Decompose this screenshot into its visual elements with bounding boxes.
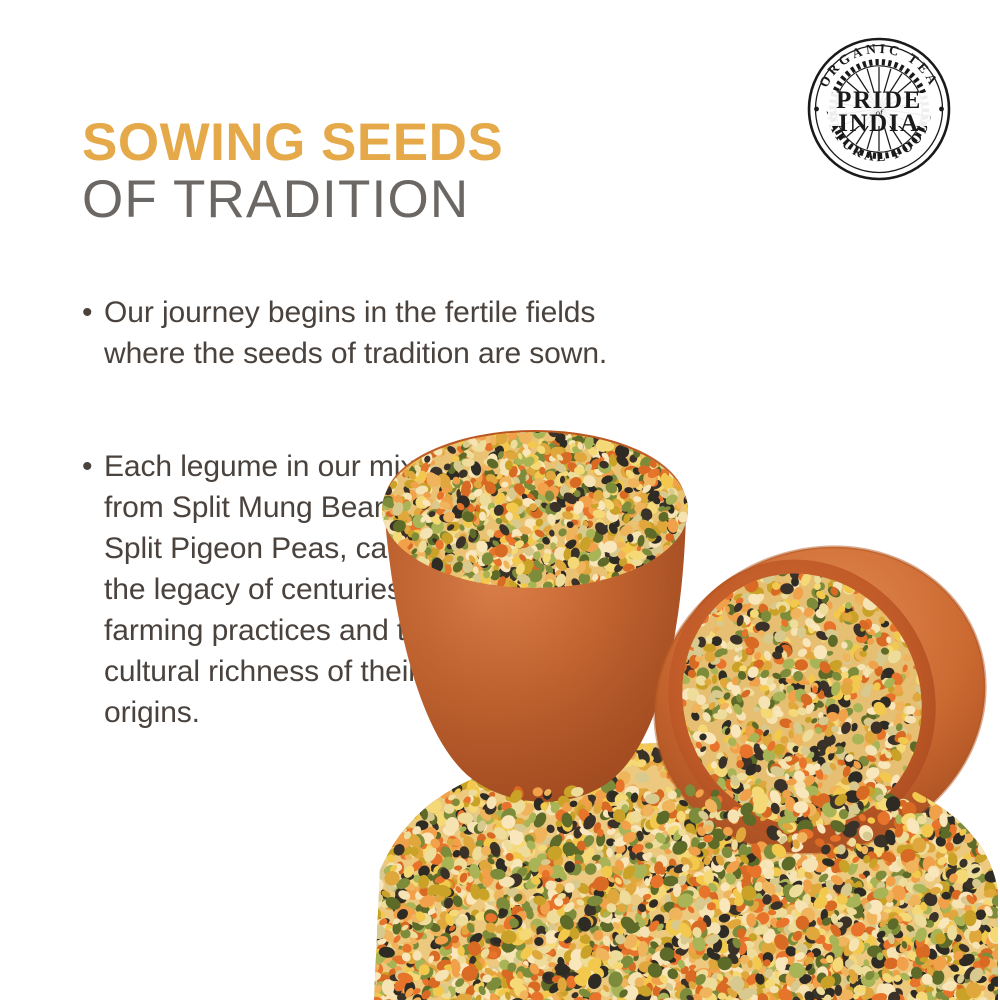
lentil-grain bbox=[611, 926, 626, 941]
lentil-grain bbox=[843, 882, 853, 889]
lentil-grain bbox=[734, 914, 751, 927]
lentil-grain bbox=[864, 668, 870, 678]
lentil-grain bbox=[788, 894, 802, 909]
lentil-grain bbox=[777, 924, 788, 932]
lentil-grain bbox=[490, 761, 497, 770]
lentil-grain bbox=[599, 919, 616, 934]
lentil-grain bbox=[854, 925, 868, 939]
lentil-grain bbox=[930, 621, 939, 630]
lentil-grain bbox=[795, 745, 811, 761]
lentil-grain bbox=[732, 824, 744, 836]
lentil-grain bbox=[413, 765, 429, 777]
lentil-grain bbox=[631, 904, 642, 914]
lentil-grain bbox=[800, 779, 811, 791]
lentil-grain bbox=[689, 842, 705, 859]
lentil-grain bbox=[369, 802, 385, 818]
lentil-grain bbox=[674, 770, 686, 784]
lentil-grain bbox=[574, 756, 588, 768]
lentil-grain bbox=[676, 874, 689, 888]
lentil-grain bbox=[506, 767, 522, 782]
lentil-grain bbox=[868, 877, 883, 893]
lentil-grain bbox=[924, 558, 942, 576]
lentil-grain bbox=[972, 738, 985, 750]
lentil-grain bbox=[875, 734, 887, 744]
lentil-grain bbox=[452, 814, 461, 827]
lentil-grain bbox=[825, 854, 838, 866]
lentil-grain bbox=[843, 819, 853, 826]
lentil-grain bbox=[506, 862, 515, 871]
lentil-grain bbox=[791, 957, 803, 970]
lentil-grain bbox=[730, 738, 739, 746]
lentil-grain bbox=[627, 810, 636, 821]
lentil-grain bbox=[429, 747, 444, 764]
lentil-grain bbox=[494, 925, 513, 944]
lentil-spill-pile bbox=[353, 722, 1000, 1000]
lentil-grain bbox=[792, 811, 811, 830]
lentil-grain bbox=[805, 852, 822, 867]
lentil-grain bbox=[664, 894, 674, 906]
lentil-grain bbox=[519, 859, 534, 875]
lentil-grain bbox=[720, 554, 736, 571]
lentil-grain bbox=[810, 941, 827, 958]
lentil-grain bbox=[921, 768, 931, 776]
lentil-grain bbox=[528, 783, 537, 792]
lentil-grain bbox=[951, 946, 965, 960]
lentil-grain bbox=[777, 640, 795, 658]
lentil-grain bbox=[917, 861, 929, 871]
lentil-grain bbox=[928, 721, 944, 737]
lentil-grain bbox=[828, 747, 844, 762]
lentil-grain bbox=[776, 755, 794, 770]
lentil-grain bbox=[958, 925, 968, 940]
lentil-grain bbox=[564, 846, 578, 860]
lentil-grain bbox=[994, 785, 1000, 802]
lentil-grain bbox=[625, 877, 635, 886]
lentil-grain bbox=[880, 848, 896, 865]
lentil-grain bbox=[370, 991, 380, 1000]
lentil-grain bbox=[730, 864, 737, 873]
lentil-grain bbox=[918, 760, 929, 774]
lentil-grain bbox=[492, 858, 503, 869]
lentil-grain bbox=[459, 876, 466, 886]
lentil-grain bbox=[989, 875, 1000, 892]
lentil-grain bbox=[527, 846, 536, 857]
lentil-grain bbox=[899, 667, 911, 680]
lentil-grain bbox=[470, 881, 488, 900]
lentil-grain bbox=[427, 955, 435, 964]
lentil-grain bbox=[958, 791, 974, 806]
lentil-grain bbox=[852, 906, 865, 915]
lentil-grain bbox=[664, 817, 680, 834]
lentil-grain bbox=[805, 795, 820, 809]
lentil-grain bbox=[914, 710, 923, 717]
lentil-grain bbox=[763, 957, 775, 968]
lentil-grain bbox=[553, 884, 568, 898]
lentil-grain bbox=[954, 917, 967, 931]
lentil-grain bbox=[536, 867, 546, 881]
lentil-grain bbox=[710, 791, 728, 810]
lentil-grain bbox=[485, 930, 499, 943]
lentil-grain bbox=[769, 711, 777, 723]
lentil-grain bbox=[927, 931, 936, 939]
lentil-grain bbox=[426, 905, 437, 913]
lentil-grain bbox=[975, 996, 991, 1000]
lentil-grain bbox=[849, 644, 862, 659]
lentil-grain bbox=[825, 825, 837, 836]
lentil-grain bbox=[437, 942, 454, 958]
lentil-grain bbox=[422, 889, 438, 905]
lentil-grain bbox=[755, 769, 765, 778]
lentil-grain bbox=[778, 979, 787, 986]
lentil-grain bbox=[849, 905, 858, 914]
lentil-grain bbox=[689, 974, 702, 988]
lentil-grain bbox=[911, 748, 920, 758]
lentil-grain bbox=[851, 816, 862, 827]
lentil-grain bbox=[988, 929, 999, 939]
lentil-grain bbox=[790, 933, 801, 943]
lentil-grain bbox=[833, 885, 844, 896]
lentil-grain bbox=[451, 865, 470, 882]
lentil-grain bbox=[667, 865, 682, 879]
lentil-grain bbox=[855, 805, 871, 822]
lentil-grain bbox=[687, 851, 696, 860]
lentil-grain bbox=[788, 760, 801, 772]
lentil-grain bbox=[844, 898, 861, 916]
lentil-grain bbox=[725, 862, 734, 872]
lentil-grain bbox=[378, 944, 391, 960]
lentil-grain bbox=[424, 799, 439, 816]
lentil-grain bbox=[489, 841, 496, 850]
lentil-grain bbox=[382, 806, 392, 815]
lentil-grain bbox=[750, 731, 766, 745]
lentil-grain bbox=[825, 650, 834, 656]
lentil-grain bbox=[396, 980, 407, 995]
lentil-grain bbox=[884, 557, 896, 570]
lentil-grain bbox=[517, 865, 533, 882]
lentil-grain bbox=[669, 831, 684, 847]
lentil-grain bbox=[394, 951, 406, 965]
lentil-grain bbox=[837, 756, 845, 765]
lentil-grain bbox=[830, 666, 844, 679]
lentil-grain bbox=[827, 749, 835, 758]
lentil-grain bbox=[542, 971, 553, 982]
lentil-grain bbox=[652, 801, 660, 811]
lentil-grain bbox=[666, 949, 683, 967]
lentil-grain bbox=[859, 672, 871, 684]
lentil-grain bbox=[772, 636, 779, 646]
lentil-grain bbox=[729, 852, 748, 870]
lentil-grain bbox=[855, 781, 875, 801]
lentil-grain bbox=[987, 926, 996, 934]
lentil-grain bbox=[642, 874, 655, 885]
lentil-grain bbox=[448, 937, 462, 951]
lentil-grain bbox=[580, 793, 597, 812]
lentil-grain bbox=[462, 802, 469, 807]
lentil-grain bbox=[660, 996, 674, 1000]
lentil-grain bbox=[710, 573, 718, 582]
lentil-grain bbox=[419, 982, 434, 999]
lentil-grain bbox=[567, 928, 576, 938]
lentil-grain bbox=[877, 648, 888, 663]
lentil-grain bbox=[502, 747, 518, 759]
lentil-grain bbox=[963, 893, 977, 905]
lentil-grain bbox=[975, 952, 985, 962]
lentil-grain bbox=[954, 983, 968, 997]
lentil-grain bbox=[542, 927, 561, 946]
lentil-grain bbox=[649, 957, 659, 965]
lentil-grain bbox=[887, 815, 903, 829]
lentil-grain bbox=[717, 995, 726, 1000]
lentil-grain bbox=[919, 723, 931, 739]
lentil-grain bbox=[663, 941, 675, 952]
lentil-grain bbox=[734, 794, 741, 804]
lentil-grain bbox=[670, 770, 685, 785]
lentil-grain bbox=[423, 967, 437, 978]
lentil-grain bbox=[437, 857, 452, 871]
lentil-grain bbox=[601, 952, 613, 966]
lentil-grain bbox=[403, 829, 420, 847]
lentil-grain bbox=[449, 988, 459, 998]
lentil-grain bbox=[404, 854, 413, 860]
lentil-grain bbox=[522, 972, 534, 984]
lentil-grain bbox=[710, 609, 720, 618]
lentil-grain bbox=[905, 973, 922, 990]
lentil-grain bbox=[926, 825, 939, 838]
lentil-grain bbox=[941, 868, 953, 882]
lentil-grain bbox=[513, 798, 518, 805]
lentil-grain bbox=[768, 758, 785, 774]
lentil-grain bbox=[567, 839, 583, 852]
lentil-grain bbox=[830, 877, 840, 884]
lentil-grain bbox=[385, 993, 399, 1000]
lentil-grain bbox=[837, 756, 848, 767]
lentil-grain bbox=[973, 794, 986, 808]
lentil-grain bbox=[725, 907, 740, 921]
lentil-grain bbox=[850, 794, 865, 804]
lentil-grain bbox=[488, 910, 502, 926]
lentil-grain bbox=[817, 740, 831, 752]
lentil-grain bbox=[384, 900, 393, 908]
lentil-grain bbox=[735, 831, 743, 841]
lentil-grain bbox=[866, 725, 882, 742]
lentil-grain bbox=[781, 913, 795, 931]
lentil-grain bbox=[724, 771, 738, 782]
lentil-grain bbox=[377, 910, 386, 918]
lentil-grain bbox=[815, 861, 826, 869]
lentil-grain bbox=[753, 729, 764, 737]
lentil-grain bbox=[919, 757, 934, 770]
lentil-grain bbox=[792, 760, 803, 771]
lentil-grain bbox=[812, 954, 827, 969]
lentil-grain bbox=[842, 706, 854, 717]
lentil-grain bbox=[734, 784, 742, 793]
lentil-grain bbox=[737, 916, 752, 931]
lentil-grain bbox=[870, 946, 881, 958]
lentil-grain bbox=[633, 908, 651, 925]
lentil-grain bbox=[875, 870, 885, 881]
lentil-grain bbox=[837, 821, 855, 838]
lentil-grain bbox=[891, 782, 901, 793]
lentil-grain bbox=[423, 825, 434, 835]
lentil-grain bbox=[424, 909, 438, 920]
lentil-grain bbox=[794, 758, 813, 776]
lentil-grain bbox=[790, 782, 803, 794]
lentil-grain bbox=[641, 915, 652, 927]
lentil-grain bbox=[593, 964, 611, 981]
lentil-grain bbox=[353, 821, 367, 836]
bullet-line: Each legume in our mix, bbox=[104, 446, 534, 487]
lentil-grain bbox=[702, 894, 715, 907]
lentil-grain bbox=[720, 810, 733, 823]
lentil-grain bbox=[725, 563, 732, 568]
lentil-grain bbox=[774, 985, 784, 998]
lentil-grain bbox=[726, 951, 742, 968]
lentil-grain bbox=[635, 760, 649, 773]
lentil-grain bbox=[565, 928, 580, 942]
lentil-grain bbox=[762, 746, 773, 757]
lentil-grain bbox=[908, 981, 917, 990]
lentil-grain bbox=[723, 834, 732, 842]
lentil-grain bbox=[861, 810, 880, 829]
lentil-grain bbox=[507, 794, 517, 804]
lentil-grain bbox=[817, 889, 825, 900]
lentil-grain bbox=[939, 803, 952, 816]
lentil-grain bbox=[856, 560, 873, 577]
lentil-grain bbox=[575, 865, 587, 875]
lentil-grain bbox=[609, 941, 620, 953]
lentil-grain bbox=[658, 825, 666, 832]
lentil-grain bbox=[681, 849, 696, 865]
lentil-grain bbox=[788, 833, 797, 844]
lentil-grain bbox=[549, 955, 563, 969]
lentil-grain bbox=[538, 787, 553, 798]
lentil-grain bbox=[915, 696, 930, 711]
lentil-grain bbox=[915, 677, 926, 689]
lentil-grain bbox=[930, 943, 949, 963]
lentil-grain bbox=[733, 834, 744, 842]
lentil-grain bbox=[746, 917, 763, 933]
lentil-grain bbox=[440, 878, 455, 893]
lentil-grain bbox=[418, 765, 425, 774]
lentil-grain bbox=[900, 809, 906, 818]
lentil-grain bbox=[706, 957, 722, 973]
lentil-grain bbox=[746, 568, 755, 578]
lentil-grain bbox=[603, 870, 621, 887]
lentil-grain bbox=[884, 600, 897, 611]
lentil-grain bbox=[380, 917, 390, 925]
lentil-grain bbox=[606, 821, 613, 830]
lentil-grain bbox=[758, 929, 769, 939]
lentil-grain bbox=[995, 906, 1000, 915]
lentil-grain bbox=[745, 853, 756, 867]
lentil-grain bbox=[735, 818, 744, 827]
lentil-grain bbox=[729, 693, 747, 711]
lentil-grain bbox=[716, 824, 725, 832]
lentil-grain bbox=[986, 741, 1000, 755]
lentil-grain bbox=[360, 807, 375, 823]
lentil-grain bbox=[807, 620, 817, 634]
lentil-grain bbox=[923, 832, 940, 847]
lentil-grain bbox=[364, 741, 376, 754]
lentil-grain bbox=[927, 759, 945, 777]
lentil-grain bbox=[375, 972, 392, 989]
lentil-grain bbox=[724, 781, 739, 795]
lentil-grain bbox=[523, 756, 536, 770]
lentil-grain bbox=[940, 824, 954, 839]
lentil-grain bbox=[904, 818, 913, 828]
lentil-grain bbox=[914, 920, 923, 931]
lentil-grain bbox=[694, 845, 708, 861]
lentil-grain bbox=[868, 709, 880, 719]
lentil-grain bbox=[676, 796, 686, 810]
lentil-grain bbox=[653, 969, 663, 979]
lentil-grain bbox=[748, 886, 755, 895]
lentil-grain bbox=[786, 684, 795, 694]
list-item: • Our journey begins in the fertile fiel… bbox=[78, 292, 708, 374]
lentil-grain bbox=[730, 826, 744, 842]
lentil-grain bbox=[815, 755, 832, 773]
lentil-grain bbox=[598, 797, 608, 806]
lentil-grain bbox=[764, 757, 782, 775]
lentil-grain bbox=[904, 834, 918, 849]
lentil-grain bbox=[758, 729, 774, 745]
lentil-grain bbox=[525, 949, 540, 965]
lentil-grain bbox=[763, 960, 774, 969]
lentil-grain bbox=[886, 767, 896, 783]
lentil-grain bbox=[864, 788, 871, 797]
lentil-grain bbox=[810, 789, 829, 808]
lentil-grain bbox=[832, 726, 847, 742]
lentil-grain bbox=[735, 837, 749, 852]
lentil-grain bbox=[962, 833, 974, 844]
lentil-grain bbox=[608, 940, 624, 957]
lentil-grain bbox=[897, 787, 913, 803]
lentil-grain bbox=[702, 732, 711, 740]
lentil-grain bbox=[792, 734, 804, 747]
lentil-grain bbox=[432, 839, 442, 849]
lentil-grain bbox=[622, 945, 635, 956]
lentil-grain bbox=[803, 908, 815, 921]
lentil-grain bbox=[365, 994, 378, 1000]
lentil-grain bbox=[587, 942, 601, 958]
lentil-grain bbox=[650, 912, 667, 931]
lentil-grain bbox=[403, 973, 411, 982]
lentil-grain bbox=[802, 970, 818, 986]
lentil-grain bbox=[762, 993, 770, 1000]
lentil-grain bbox=[415, 957, 424, 965]
lentil-grain bbox=[582, 781, 597, 790]
lentil-grain bbox=[872, 810, 887, 826]
lentil-grain bbox=[570, 897, 581, 910]
lentil-grain bbox=[894, 821, 906, 835]
lentil-grain bbox=[716, 760, 729, 773]
lentil-grain bbox=[853, 753, 865, 762]
lentil-grain bbox=[418, 759, 427, 766]
lentil-grain bbox=[729, 989, 739, 999]
lentil-grain bbox=[854, 923, 864, 932]
lentil-grain bbox=[913, 730, 922, 739]
lentil-grain bbox=[865, 622, 876, 635]
lentil-grain bbox=[851, 621, 868, 639]
lentil-grain bbox=[835, 726, 845, 736]
spill-grain-layer bbox=[353, 722, 1000, 1000]
lentil-grain bbox=[719, 788, 733, 804]
lentil-grain bbox=[853, 845, 862, 854]
lentil-grain bbox=[830, 793, 844, 807]
lentil-grain bbox=[970, 960, 979, 969]
lentil-grain bbox=[945, 738, 958, 753]
lentil-grain bbox=[933, 858, 946, 871]
